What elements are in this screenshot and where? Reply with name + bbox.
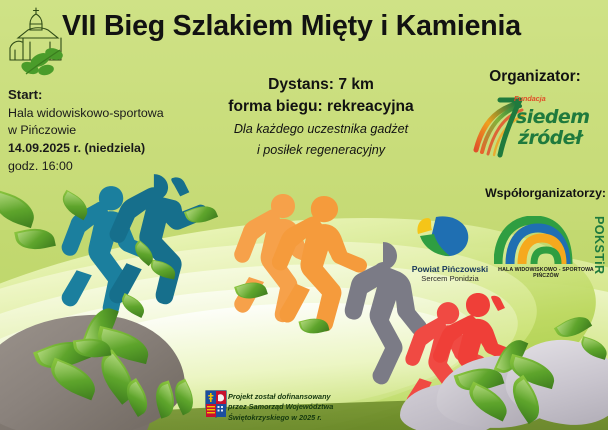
coorganizers-heading: Współorganizatorzy: — [450, 186, 606, 200]
page-title: VII Bieg Szlakiem Mięty i Kamienia — [62, 12, 602, 42]
start-venue-line2: w Pińczowie — [8, 123, 76, 137]
mint-plant-right — [452, 346, 572, 426]
powiat-pinczowski-logo: Powiat Pińczowski Sercem Ponidzia — [406, 214, 494, 280]
race-perk-line2: i posiłek regeneracyjny — [196, 142, 446, 159]
fundacja-word-siedem: siedem — [516, 106, 589, 128]
funding-line2: przez Samorząd Województwa — [228, 402, 333, 411]
start-time: godz. 16:00 — [8, 159, 73, 173]
pokstir-tagline: HALA WIDOWISKOWO - SPORTOWA PIŃCZÓW — [494, 267, 598, 279]
race-form: forma biegu: rekreacyjna — [196, 96, 446, 118]
funding-line3: Świętokrzyskiego w 2025 r. — [228, 413, 322, 422]
start-info-block: Start: Hala widowiskowo-sportowa w Pińcz… — [8, 86, 204, 175]
start-label: Start: — [8, 86, 204, 105]
powiat-tagline: Sercem Ponidzia — [406, 274, 494, 283]
mint-plant-bottom — [110, 388, 200, 430]
pokstir-name: POKSTiR — [592, 216, 606, 275]
swietokrzyskie-crest-icon — [205, 390, 227, 418]
organizer-heading: Organizator: — [464, 68, 606, 86]
start-venue-line1: Hala widowiskowo-sportowa — [8, 106, 164, 120]
start-date: 14.09.2025 r. (niedziela) — [8, 141, 145, 155]
pokstir-logo: POKSTiR HALA WIDOWISKOWO - SPORTOWA PIŃC… — [494, 214, 606, 280]
race-perk-line1: Dla każdego uczestnika gadżet — [196, 121, 446, 138]
fundacja-siedem-zrodel-logo: Fundacja siedem źródeł — [470, 92, 602, 158]
race-details-block: Dystans: 7 km forma biegu: rekreacyjna D… — [196, 74, 446, 159]
race-poster: VII Bieg Szlakiem Mięty i Kamienia Start… — [0, 0, 608, 430]
powiat-name: Powiat Pińczowski — [406, 264, 494, 274]
funding-note: Projekt został dofinansowany przez Samor… — [228, 392, 428, 423]
race-distance: Dystans: 7 km — [196, 74, 446, 96]
runner-silhouette-teal-2 — [100, 168, 224, 330]
fundacja-word-zrodel: źródeł — [518, 127, 582, 149]
funding-line1: Projekt został dofinansowany — [228, 392, 331, 401]
fundacja-label: Fundacja — [514, 94, 546, 103]
